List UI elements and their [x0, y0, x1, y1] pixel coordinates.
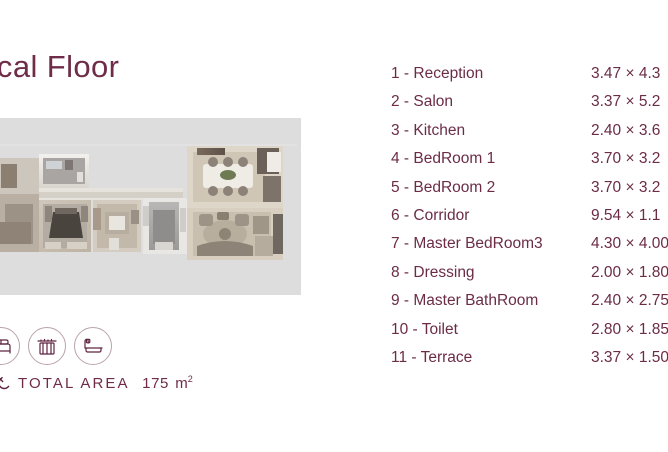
total-area-unit: m [175, 375, 188, 392]
room-dimensions: 3.70 × 3.2 [591, 176, 660, 200]
total-area-row: TOTAL AREA 175 m2 [0, 368, 193, 395]
list-item: 8 - Dressing 2.00 × 1.80 [391, 261, 668, 289]
floorplan-block [0, 118, 301, 295]
list-item: 7 - Master BedRoom3 4.30 × 4.00 [391, 232, 668, 260]
room-label: 3 - Kitchen [391, 119, 465, 143]
floor-plan-page: pical Floor [0, 0, 668, 452]
total-area-value: 175 [142, 375, 169, 392]
room-label: 7 - Master BedRoom3 [391, 232, 543, 256]
total-area-label: TOTAL AREA [18, 375, 130, 392]
room-label: 2 - Salon [391, 90, 453, 114]
list-item: 10 - Toilet 2.80 × 1.85 [391, 318, 668, 346]
bathtub-icon[interactable] [74, 327, 112, 365]
amenity-icons-row [0, 327, 112, 365]
list-item: 3 - Kitchen 2.40 × 3.6 [391, 119, 668, 147]
room-label: 4 - BedRoom 1 [391, 147, 495, 171]
room-dimensions: 2.00 × 1.80 [591, 261, 668, 285]
room-label: 5 - BedRoom 2 [391, 176, 495, 200]
list-item: 4 - BedRoom 1 3.70 × 3.2 [391, 147, 668, 175]
list-item: 6 - Corridor 9.54 × 1.1 [391, 204, 668, 232]
list-item: 9 - Master BathRoom 2.40 × 2.75 [391, 289, 668, 317]
room-legend-list: 1 - Reception 3.47 × 4.3 2 - Salon 3.37 … [391, 62, 668, 374]
room-label: 9 - Master BathRoom [391, 289, 538, 313]
page-title: pical Floor [0, 48, 119, 86]
room-dimensions: 4.30 × 4.00 [591, 232, 668, 256]
room-label: 8 - Dressing [391, 261, 475, 285]
room-dimensions: 2.80 × 1.85 [591, 318, 668, 342]
room-dimensions: 3.37 × 5.2 [591, 90, 660, 114]
list-item: 2 - Salon 3.37 × 5.2 [391, 90, 668, 118]
room-dimensions: 2.40 × 3.6 [591, 119, 660, 143]
bed-icon[interactable] [0, 327, 20, 365]
area-measure-icon [0, 369, 14, 395]
room-label: 1 - Reception [391, 62, 483, 86]
room-dimensions: 2.40 × 2.75 [591, 289, 668, 313]
wardrobe-icon[interactable] [28, 327, 66, 365]
room-label: 11 - Terrace [391, 346, 472, 370]
room-label: 6 - Corridor [391, 204, 469, 228]
list-item: 1 - Reception 3.47 × 4.3 [391, 62, 668, 90]
floorplan-image [0, 130, 297, 282]
list-item: 11 - Terrace 3.37 × 1.50 [391, 346, 668, 374]
total-area-exponent: 2 [188, 374, 193, 384]
room-dimensions: 3.70 × 3.2 [591, 147, 660, 171]
list-item: 5 - BedRoom 2 3.70 × 3.2 [391, 176, 668, 204]
room-dimensions: 3.47 × 4.3 [591, 62, 660, 86]
room-dimensions: 9.54 × 1.1 [591, 204, 660, 228]
room-label: 10 - Toilet [391, 318, 458, 342]
room-dimensions: 3.37 × 1.50 [591, 346, 668, 370]
total-area-text: TOTAL AREA 175 m2 [18, 368, 193, 395]
